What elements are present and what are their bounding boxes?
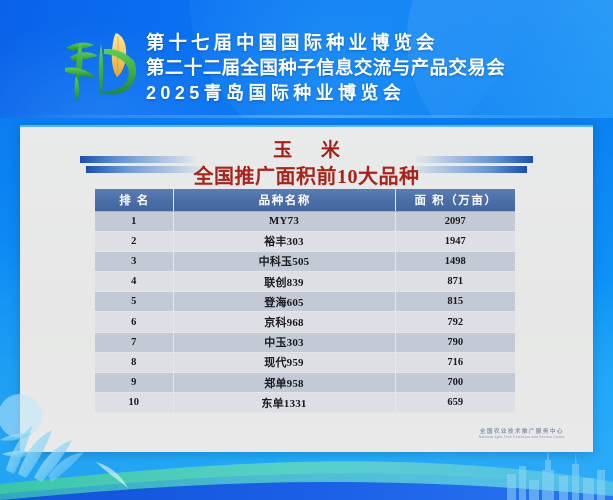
cell-variety-name: 东单1331	[173, 393, 395, 413]
cell-rank: 8	[95, 352, 173, 372]
table-row: 4联创839871	[95, 272, 515, 292]
table-header: 排 名 品种名称 面 积（万亩）	[95, 189, 515, 211]
cell-rank: 4	[95, 272, 173, 292]
watermark-english: National Agro-Tech Extension and Service…	[479, 436, 565, 440]
cell-area: 659	[395, 393, 515, 413]
content-card: 玉 米 全国推广面积前10大品种 排 名 品种名称 面 积（万亩） 1MY732…	[20, 125, 593, 452]
cell-variety-name: 联创839	[173, 272, 395, 292]
cell-rank: 6	[95, 312, 173, 332]
ranking-table: 排 名 品种名称 面 积（万亩） 1MY7320972裕丰30319473中科玉…	[95, 189, 515, 413]
title-subtitle: 全国推广面积前10大品种	[20, 164, 593, 190]
banner-title-line-3: 2025青岛国际种业博览会	[146, 81, 596, 105]
cell-area: 871	[395, 272, 515, 292]
column-header-area: 面 积（万亩）	[395, 189, 515, 211]
cell-area: 700	[395, 373, 515, 393]
column-header-rank: 排 名	[95, 189, 173, 211]
table-header-row: 排 名 品种名称 面 积（万亩）	[95, 189, 515, 211]
cell-rank: 1	[95, 211, 173, 231]
table-row: 1MY732097	[95, 211, 515, 231]
cell-area: 1498	[395, 251, 515, 271]
cell-area: 1947	[395, 231, 515, 251]
event-banner: 第十七届中国国际种业博览会 第二十二届全国种子信息交流与产品交易会 2025青岛…	[0, 0, 613, 118]
table-row: 8现代959716	[95, 352, 515, 372]
cell-variety-name: 中科玉505	[173, 251, 395, 271]
column-header-variety-name: 品种名称	[173, 189, 395, 211]
title-crop-name: 玉 米	[20, 139, 593, 163]
table-row: 2裕丰3031947	[95, 231, 515, 251]
cell-rank: 5	[95, 292, 173, 312]
cell-variety-name: 现代959	[173, 352, 395, 372]
banner-title-line-1: 第十七届中国国际种业博览会	[146, 31, 596, 55]
banner-bottom-edge	[0, 115, 613, 118]
cell-variety-name: 裕丰303	[173, 231, 395, 251]
table-row: 5登海605815	[95, 292, 515, 312]
table-row: 6京科968792	[95, 312, 515, 332]
cell-variety-name: 郑单958	[173, 373, 395, 393]
organization-watermark: 全国农业技术推广服务中心 National Agro-Tech Extensio…	[479, 429, 565, 440]
cell-area: 716	[395, 352, 515, 372]
table-body: 1MY7320972裕丰30319473中科玉50514984联创8398715…	[95, 211, 515, 413]
card-top-accent-line	[20, 125, 593, 127]
table-row: 3中科玉5051498	[95, 251, 515, 271]
table-row: 9郑单958700	[95, 373, 515, 393]
cell-area: 2097	[395, 211, 515, 231]
cell-rank: 7	[95, 332, 173, 352]
banner-title-block: 第十七届中国国际种业博览会 第二十二届全国种子信息交流与产品交易会 2025青岛…	[146, 26, 596, 110]
cell-variety-name: 登海605	[173, 292, 395, 312]
cell-variety-name: MY73	[173, 211, 395, 231]
slide-stage: 第十七届中国国际种业博览会 第二十二届全国种子信息交流与产品交易会 2025青岛…	[0, 0, 613, 500]
banner-title-line-2: 第二十二届全国种子信息交流与产品交易会	[146, 56, 596, 80]
cell-area: 815	[395, 292, 515, 312]
cell-rank: 2	[95, 231, 173, 251]
table-row: 7中玉303790	[95, 332, 515, 352]
cell-variety-name: 中玉303	[173, 332, 395, 352]
page-title: 玉 米 全国推广面积前10大品种	[20, 139, 593, 190]
seed-expo-logo-icon	[56, 24, 148, 110]
cell-variety-name: 京科968	[173, 312, 395, 332]
cell-rank: 3	[95, 251, 173, 271]
cell-area: 790	[395, 332, 515, 352]
cell-rank: 10	[95, 393, 173, 413]
cell-rank: 9	[95, 373, 173, 393]
ranking-table-wrapper: 排 名 品种名称 面 积（万亩） 1MY7320972裕丰30319473中科玉…	[95, 189, 515, 413]
table-row: 10东单1331659	[95, 393, 515, 413]
cell-area: 792	[395, 312, 515, 332]
